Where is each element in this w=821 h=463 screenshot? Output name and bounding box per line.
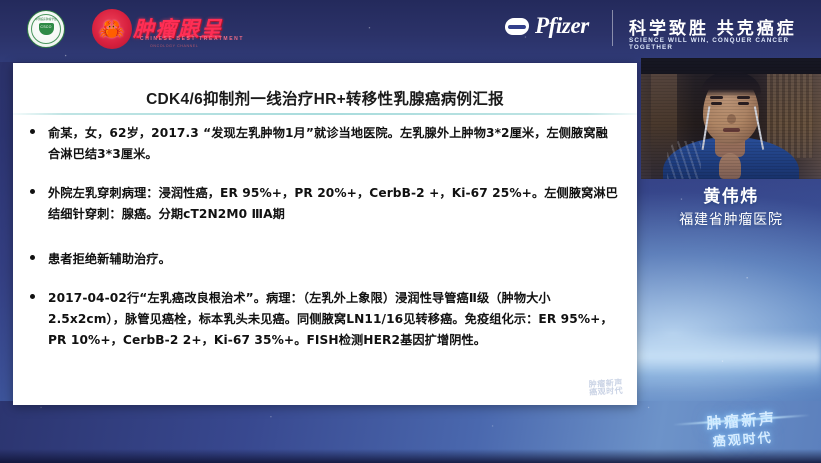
video-person-hand <box>719 153 741 179</box>
video-person-mouth <box>723 128 740 132</box>
bullet-dot-icon <box>30 294 35 299</box>
list-item: 2017-04-02行“左乳癌改良根治术”。病理：（左乳外上象限）浸润性导管癌Ⅱ… <box>30 288 619 352</box>
csco-logo: 中国临床肿瘤学会 CSCO <box>27 10 65 48</box>
list-item: 俞某，女，62岁，2017.3 “发现左乳肿物1月”就诊当地医院。左乳腺外上肿物… <box>30 123 619 166</box>
csco-logo-ring: 中国临床肿瘤学会 CSCO <box>31 14 61 44</box>
speaker-name: 黄伟炜 <box>641 182 821 207</box>
csco-logo-arc-text: 中国临床肿瘤学会 <box>35 17 57 21</box>
speaker-video-feed[interactable] <box>641 58 821 179</box>
speaker-organization: 福建省肿瘤医院 <box>641 209 821 229</box>
bullet-text: 外院左乳穿刺病理：浸润性癌，ER 95%+，PR 20%+，CerbB-2 +，… <box>48 183 619 226</box>
bullet-dot-icon <box>30 129 35 134</box>
slide-panel: CDK4/6抑制剂一线治疗HR+转移性乳腺癌病例汇报 俞某，女，62岁，2017… <box>13 63 637 405</box>
slide-title-divider <box>13 113 637 115</box>
slide-title: CDK4/6抑制剂一线治疗HR+转移性乳腺癌病例汇报 <box>13 87 637 109</box>
list-item: 外院左乳穿刺病理：浸润性癌，ER 95%+，PR 20%+，CerbB-2 +，… <box>30 183 619 226</box>
campaign-slogan-en: SCIENCE WILL WIN, CONQUER CANCER TOGETHE… <box>629 37 821 51</box>
video-shirt-pattern <box>667 141 701 179</box>
slide-watermark-line2: 癌观时代 <box>589 388 623 398</box>
pfizer-mark-icon <box>504 18 529 35</box>
header-divider <box>612 10 613 46</box>
presentation-screen: 中国临床肿瘤学会 CSCO 🦀 肿瘤跟呈 CHINESE BEST TREATM… <box>0 0 821 463</box>
video-person-brow-right <box>737 96 750 99</box>
video-person-nose <box>727 114 736 124</box>
crab-icon: 🦀 <box>92 9 132 49</box>
bullet-text: 俞某，女，62岁，2017.3 “发现左乳肿物1月”就诊当地医院。左乳腺外上肿物… <box>48 123 619 166</box>
video-person-eye-right <box>738 102 749 105</box>
bullet-text: 2017-04-02行“左乳癌改良根治术”。病理：（左乳外上象限）浸润性导管癌Ⅱ… <box>48 288 619 352</box>
bullet-dot-icon <box>30 255 35 260</box>
pfizer-logo: Pfizer <box>505 13 589 39</box>
crab-glyph: 🦀 <box>99 19 125 40</box>
list-item: 患者拒绝新辅助治疗。 <box>30 249 619 270</box>
csco-logo-abbr: CSCO <box>40 25 51 29</box>
slide-watermark: 肿瘤新声 癌观时代 <box>589 379 624 398</box>
video-person-eye-left <box>711 102 722 105</box>
campaign-slogan-cn: 科学致胜 共克癌症 <box>629 14 797 39</box>
bullet-dot-icon <box>30 189 35 194</box>
video-person-brow-left <box>710 96 723 99</box>
corner-watermark-logo: 肿瘤新声 癌观时代 <box>669 398 814 460</box>
bullet-text: 患者拒绝新辅助治疗。 <box>48 249 171 270</box>
header-bar: 中国临床肿瘤学会 CSCO 🦀 肿瘤跟呈 CHINESE BEST TREATM… <box>0 0 821 58</box>
pfizer-wordmark: Pfizer <box>535 13 589 39</box>
slide-bullet-list: 俞某，女，62岁，2017.3 “发现左乳肿物1月”就诊当地医院。左乳腺外上肿物… <box>30 123 619 369</box>
brand-subtitle-en: ONCOLOGY CHANNEL <box>150 44 198 48</box>
speaker-caption: 黄伟炜 福建省肿瘤医院 <box>641 182 821 229</box>
watermark-line2: 癌观时代 <box>712 427 773 450</box>
brand-title-en: CHINESE BEST TREATMENT <box>140 36 244 42</box>
